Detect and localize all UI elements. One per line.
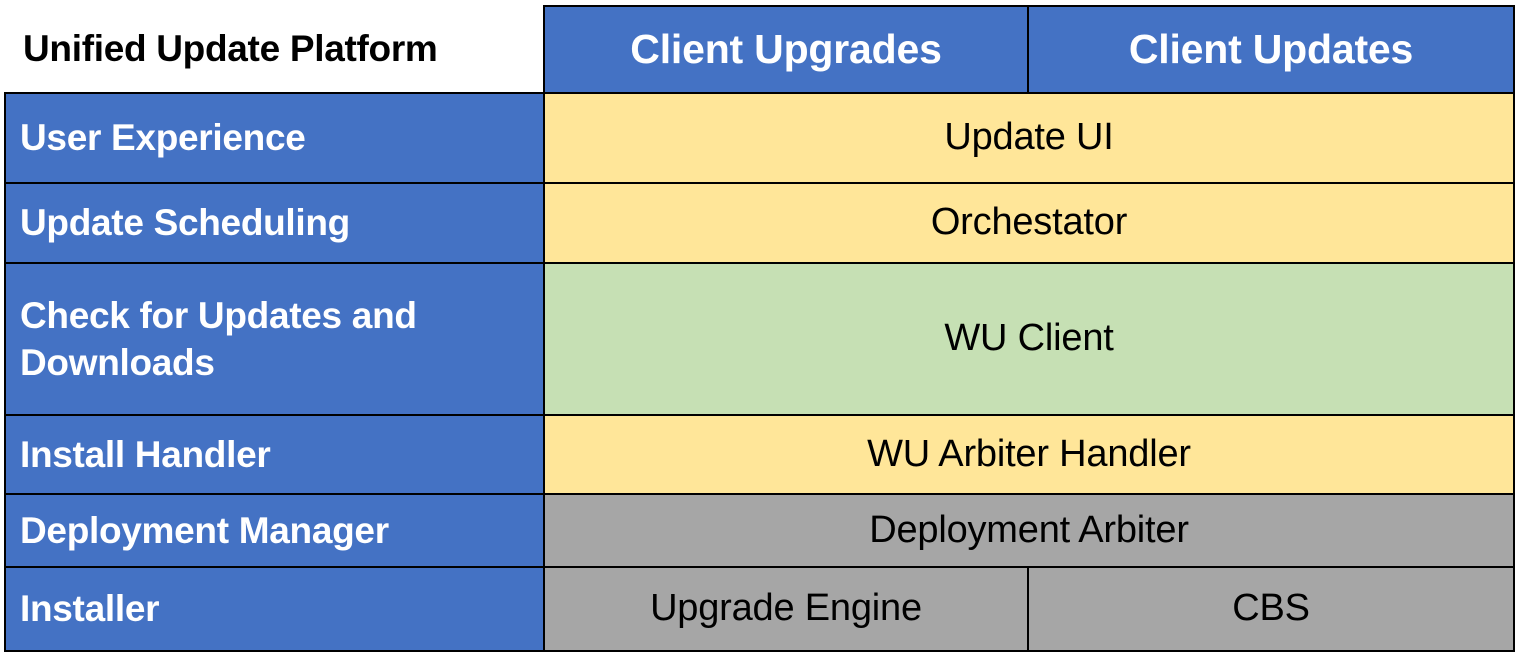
- row-label-deployment-manager: Deployment Manager: [5, 494, 544, 567]
- table-row: Check for Updates and Downloads WU Clien…: [5, 263, 1514, 415]
- row-label-installer: Installer: [5, 567, 544, 651]
- table-header-row: Unified Update Platform Client Upgrades …: [5, 6, 1514, 93]
- row-label-check-for-updates-and-downloads: Check for Updates and Downloads: [5, 263, 544, 415]
- row-label-update-scheduling: Update Scheduling: [5, 183, 544, 263]
- table-row: User Experience Update UI: [5, 93, 1514, 183]
- cell-update-ui: Update UI: [544, 93, 1514, 183]
- cell-deployment-arbiter: Deployment Arbiter: [544, 494, 1514, 567]
- row-label-user-experience: User Experience: [5, 93, 544, 183]
- cell-wu-client: WU Client: [544, 263, 1514, 415]
- column-header-client-updates: Client Updates: [1028, 6, 1514, 93]
- table-row: Install Handler WU Arbiter Handler: [5, 415, 1514, 494]
- cell-wu-arbiter-handler: WU Arbiter Handler: [544, 415, 1514, 494]
- cell-upgrade-engine: Upgrade Engine: [544, 567, 1028, 651]
- cell-cbs: CBS: [1028, 567, 1514, 651]
- column-header-client-upgrades: Client Upgrades: [544, 6, 1028, 93]
- table-row: Update Scheduling Orchestator: [5, 183, 1514, 263]
- unified-update-platform-table: Unified Update Platform Client Upgrades …: [4, 5, 1515, 652]
- table-row: Deployment Manager Deployment Arbiter: [5, 494, 1514, 567]
- table-row: Installer Upgrade Engine CBS: [5, 567, 1514, 651]
- row-label-install-handler: Install Handler: [5, 415, 544, 494]
- page-title: Unified Update Platform: [5, 6, 544, 93]
- cell-orchestator: Orchestator: [544, 183, 1514, 263]
